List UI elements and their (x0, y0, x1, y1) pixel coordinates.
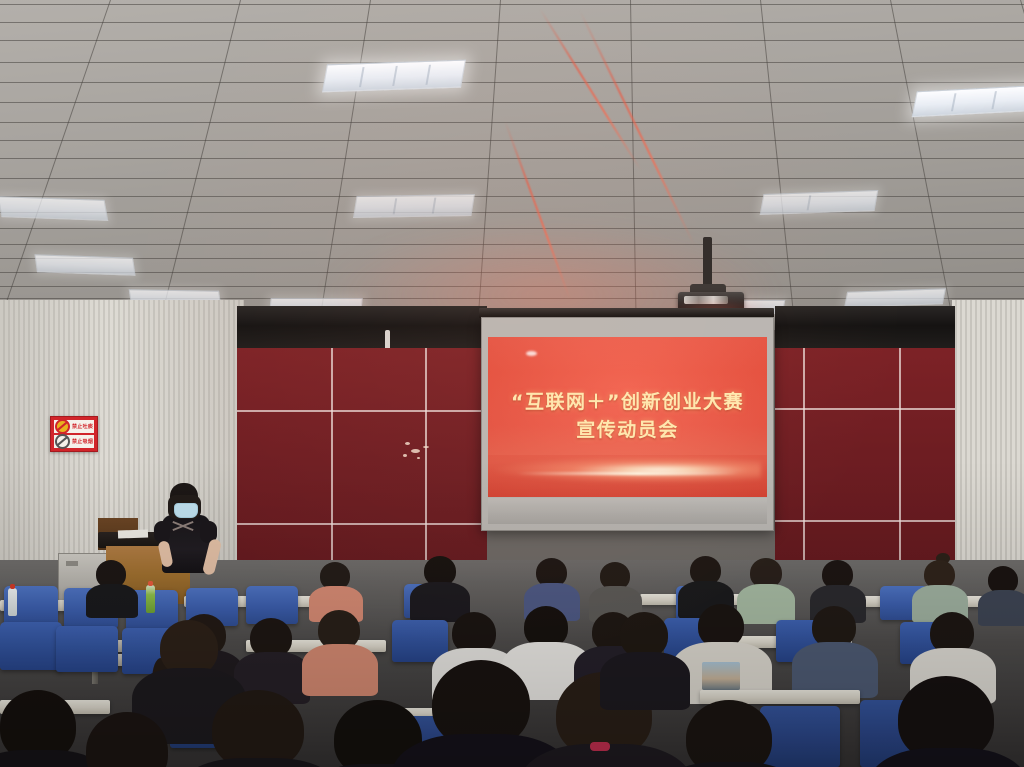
presenter-dress-strap (172, 519, 200, 533)
slide-title-block: “互联网＋”创新创业大赛 宣传动员会 (488, 389, 767, 444)
projector-mount-pole (703, 237, 712, 289)
water-bottle-green (146, 585, 155, 613)
slide-title-line1: “互联网＋”创新创业大赛 (488, 389, 767, 417)
slide-light-flare (494, 457, 762, 483)
podium-papers (118, 529, 148, 538)
sign-row-no-smoking: 禁止吸烟 (54, 435, 94, 448)
wall-black-band-left (237, 306, 487, 350)
wall-black-band-right (775, 306, 955, 350)
chair (56, 626, 118, 672)
ceiling-light-panel (0, 196, 108, 221)
head (212, 690, 304, 767)
shoulders (978, 590, 1024, 626)
presenter-sleeve-left (154, 521, 170, 543)
slide-highlight-speck (526, 351, 537, 356)
presenter (152, 483, 224, 593)
chair (760, 706, 840, 767)
ceiling (0, 0, 1024, 330)
hair-tie (590, 742, 610, 751)
chair (0, 622, 62, 670)
head (686, 700, 772, 767)
no-spitting-no-smoking-sign: 禁止吐痰 禁止吸烟 (50, 416, 98, 452)
screen-bottom-border (488, 498, 767, 524)
sign-row-no-spitting: 禁止吐痰 (54, 420, 94, 433)
shoulders (600, 652, 690, 710)
no-smoking-icon (55, 434, 70, 449)
slide-flare-streak (516, 472, 739, 475)
slide-title-line2: 宣传动员会 (488, 417, 767, 445)
projection-screen: “互联网＋”创新创业大赛 宣传动员会 (481, 317, 774, 531)
wall-stain (395, 440, 429, 466)
ceiling-light-panel (760, 190, 879, 215)
lecture-hall-photo: 禁止吐痰 禁止吸烟 “互联网＋”创新创业大赛 宣传动员会 (0, 0, 1024, 767)
projected-slide: “互联网＋”创新创业大赛 宣传动员会 (488, 337, 767, 497)
right-wall-panel (952, 300, 1024, 600)
shirt-graphic (702, 662, 740, 690)
shoulders (302, 644, 378, 696)
ceiling-light-panel (353, 194, 475, 218)
ceiling-light-panel (322, 60, 466, 93)
sign-text-line2: 禁止吸烟 (72, 438, 93, 445)
ceiling-light-panel (34, 254, 135, 275)
shoulders (737, 584, 795, 624)
presenter-face-mask (174, 503, 198, 518)
sign-text-line1: 禁止吐痰 (72, 423, 93, 430)
water-bottle-clear (8, 588, 17, 616)
no-spitting-icon (55, 419, 70, 434)
shoulders (86, 584, 138, 618)
